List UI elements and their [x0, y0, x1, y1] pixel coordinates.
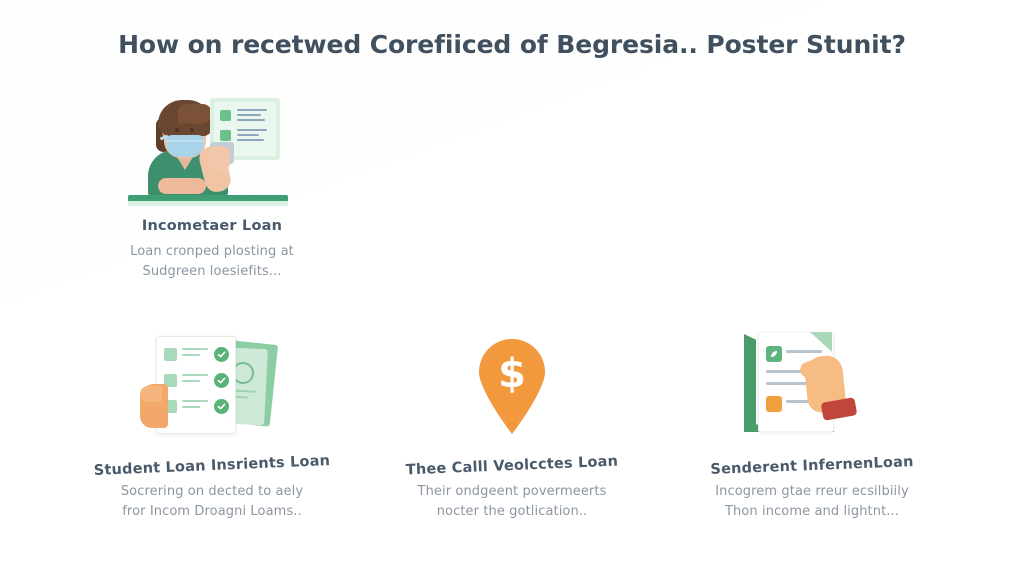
card-student-loan[interactable]: Student Loan Insrients Loan Socrering on… — [62, 328, 362, 540]
card-description: Their ondgeent povermeerts nocter the go… — [387, 482, 637, 522]
card-grid: Incometaer Loan Loan cronped plosting at… — [62, 88, 962, 558]
card-title: Student Loan Insrients Loan — [87, 453, 337, 479]
poster-canvas: How on recetwed Corefiiced of Begresia..… — [0, 0, 1024, 576]
svg-text:$: $ — [498, 351, 526, 397]
check-icon — [214, 373, 229, 388]
card-description-line-2: fror Incom Droagni Loams.. — [87, 502, 337, 522]
document-hand-icon — [722, 328, 902, 446]
leaf-badge-icon — [766, 346, 782, 362]
card-description: Loan cronped plosting at Sudgreen loesie… — [87, 242, 337, 282]
card-description-line-1: Their ondgeent povermeerts — [418, 484, 607, 499]
card-call-loan[interactable]: $ Thee Calll Veolcctes Loan Their ondgee… — [362, 328, 662, 540]
card-description-line-1: Loan cronped plosting at — [130, 244, 294, 259]
card-title: Senderent InfernenLoan — [687, 453, 937, 479]
card-description-line-1: Socrering on dected to aely — [121, 484, 303, 499]
card-description-line-1: Incogrem gtae rreur ecsilbiily — [715, 484, 909, 499]
card-description: Socrering on dected to aely fror Incom D… — [87, 482, 337, 522]
card-description-line-2: Sudgreen loesiefits... — [87, 262, 337, 282]
page-title: How on recetwed Corefiiced of Begresia..… — [0, 30, 1024, 59]
card-title: Incometaer Loan — [87, 218, 337, 234]
masked-person-document-icon — [122, 88, 302, 206]
card-income-loan[interactable]: Incometaer Loan Loan cronped plosting at… — [62, 88, 362, 300]
checklist-hand-money-icon — [122, 328, 302, 446]
check-icon — [214, 399, 229, 414]
card-description-line-2: nocter the gotlication.. — [387, 502, 637, 522]
card-title: Thee Calll Veolcctes Loan — [387, 453, 637, 479]
dollar-map-pin-icon: $ — [422, 328, 602, 446]
check-icon — [214, 347, 229, 362]
card-description-line-2: Thon income and lightnt... — [687, 502, 937, 522]
card-description: Incogrem gtae rreur ecsilbiily Thon inco… — [687, 482, 937, 522]
card-senderent-loan[interactable]: Senderent InfernenLoan Incogrem gtae rre… — [662, 328, 962, 540]
